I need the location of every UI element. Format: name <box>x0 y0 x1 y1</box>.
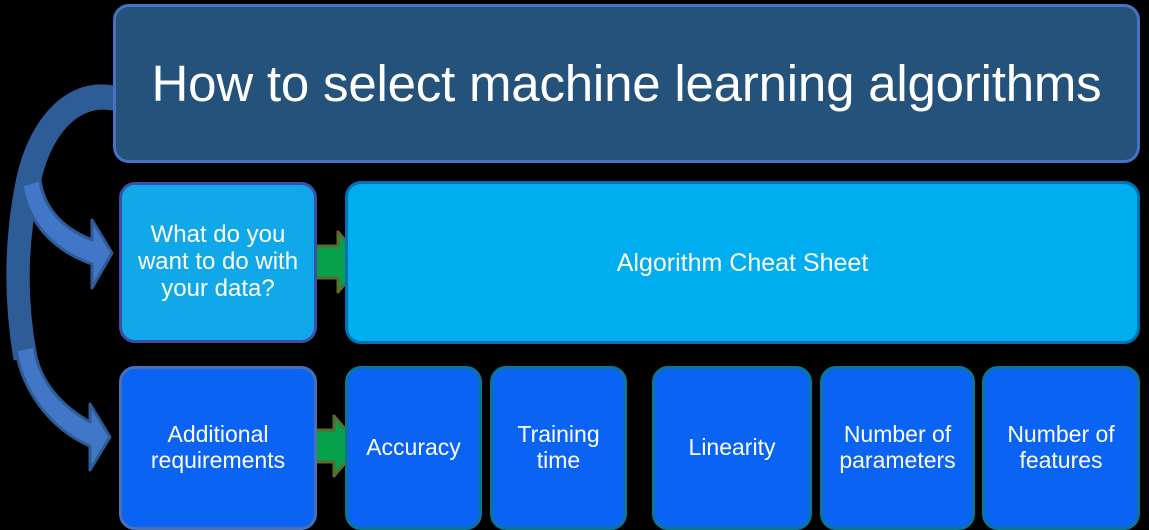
requirement-card-number-of-features[interactable]: Number of features <box>982 366 1140 530</box>
title-stem-connector <box>7 85 113 360</box>
requirement-card-number-of-parameters[interactable]: Number of parameters <box>820 366 975 530</box>
requirement-card-linearity[interactable]: Linearity <box>652 366 812 530</box>
algorithm-cheat-sheet-card[interactable]: Algorithm Cheat Sheet <box>345 181 1140 344</box>
page-title: How to select machine learning algorithm… <box>113 4 1140 163</box>
curved-arrow-to-question-icon <box>22 180 112 288</box>
question-card[interactable]: What do you want to do with your data? <box>119 182 317 343</box>
additional-requirements-card[interactable]: Additional requirements <box>119 366 317 530</box>
diagram-canvas: How to select machine learning algorithm… <box>0 0 1149 530</box>
curved-arrow-to-additional-icon <box>16 346 110 470</box>
requirement-card-training-time[interactable]: Training time <box>490 366 627 530</box>
requirement-card-accuracy[interactable]: Accuracy <box>345 366 482 530</box>
